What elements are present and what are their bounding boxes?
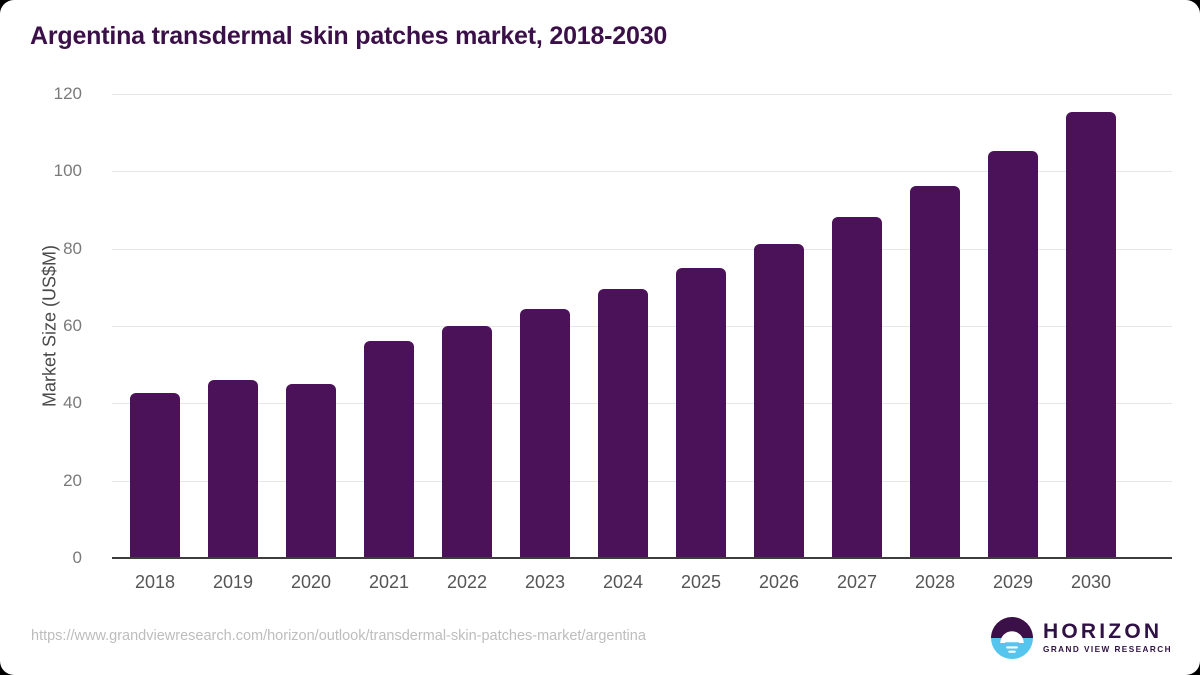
horizon-logo[interactable]: HORIZON GRAND VIEW RESEARCH — [991, 617, 1172, 659]
x-axis-tick-label: 2026 — [736, 572, 822, 593]
bar[interactable] — [208, 380, 258, 558]
y-axis-tick-label: 60 — [22, 316, 82, 336]
x-axis-tick-label: 2025 — [658, 572, 744, 593]
logo-subtitle: GRAND VIEW RESEARCH — [1043, 646, 1172, 654]
y-axis-tick-label: 80 — [22, 239, 82, 259]
bar[interactable] — [598, 289, 648, 558]
bar[interactable] — [520, 309, 570, 558]
source-url[interactable]: https://www.grandviewresearch.com/horizo… — [31, 628, 646, 644]
y-axis-tick-label: 20 — [22, 471, 82, 491]
y-axis-tick-label: 120 — [22, 84, 82, 104]
bar[interactable] — [676, 268, 726, 558]
x-axis-tick-label: 2020 — [268, 572, 354, 593]
x-axis-line — [112, 557, 1172, 559]
y-axis-tick-label: 40 — [22, 393, 82, 413]
bar[interactable] — [988, 151, 1038, 558]
x-axis-tick-label: 2018 — [112, 572, 198, 593]
chart-card: Argentina transdermal skin patches marke… — [0, 0, 1200, 675]
x-axis-tick-label: 2030 — [1048, 572, 1134, 593]
horizon-logo-text: HORIZON GRAND VIEW RESEARCH — [1043, 621, 1172, 654]
bar[interactable] — [754, 244, 804, 558]
page-title: Argentina transdermal skin patches marke… — [30, 22, 667, 51]
bar[interactable] — [1066, 112, 1116, 558]
logo-title: HORIZON — [1043, 621, 1172, 642]
bar[interactable] — [832, 217, 882, 558]
bar[interactable] — [442, 326, 492, 558]
y-axis-tick-label: 100 — [22, 161, 82, 181]
bar[interactable] — [910, 186, 960, 558]
plot-area: Market Size (US$M) 020406080100120 20182… — [112, 94, 1172, 558]
x-axis-tick-label: 2029 — [970, 572, 1056, 593]
x-axis-tick-label: 2027 — [814, 572, 900, 593]
x-axis-tick-label: 2022 — [424, 572, 510, 593]
bar[interactable] — [286, 384, 336, 558]
x-axis-tick-label: 2019 — [190, 572, 276, 593]
x-axis-tick-label: 2028 — [892, 572, 978, 593]
gridline — [112, 94, 1172, 95]
y-axis-tick-label: 0 — [22, 548, 82, 568]
horizon-logo-icon — [991, 617, 1033, 659]
bar[interactable] — [130, 393, 180, 558]
x-axis-tick-label: 2021 — [346, 572, 432, 593]
x-axis-tick-label: 2024 — [580, 572, 666, 593]
bar[interactable] — [364, 341, 414, 558]
x-axis-tick-label: 2023 — [502, 572, 588, 593]
